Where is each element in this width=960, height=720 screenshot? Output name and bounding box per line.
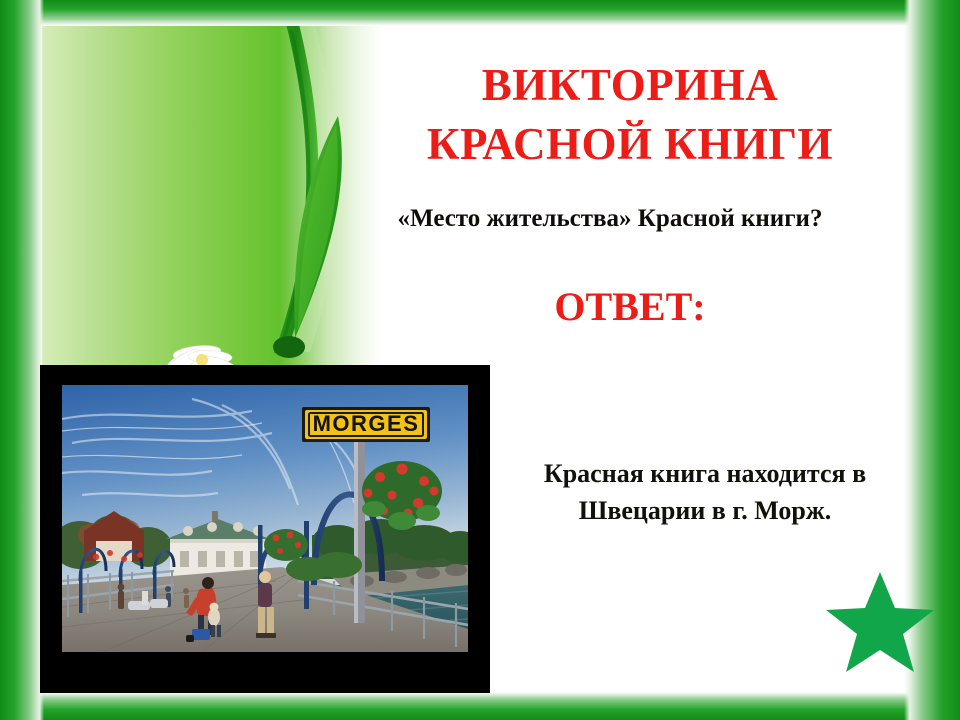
answer-line-3: г. Морж. <box>732 496 831 525</box>
page-title: ВИКТОРИНА КРАСНОЙ КНИГИ <box>330 56 930 175</box>
morges-promenade-photo: MORGES <box>62 385 468 652</box>
title-line-2: КРАСНОЙ КНИГИ <box>330 115 930 174</box>
border-top <box>0 0 960 26</box>
answer-text: Красная книга находится в Швецарии в г. … <box>505 455 905 529</box>
flower-basket-mid <box>264 529 308 561</box>
quiz-question: «Место жительства» Красной книги? <box>300 205 920 233</box>
slide-canvas: ВИКТОРИНА КРАСНОЙ КНИГИ «Место жительств… <box>0 0 960 720</box>
border-bottom <box>0 692 960 720</box>
answer-line-1: Красная книга <box>544 459 720 488</box>
title-line-1: ВИКТОРИНА <box>330 56 930 115</box>
morges-sign: MORGES <box>302 407 430 442</box>
border-left <box>0 0 44 720</box>
photo-frame: MORGES <box>40 365 490 693</box>
star-icon <box>824 568 936 676</box>
svg-text:MORGES: MORGES <box>313 411 420 436</box>
answer-label: ОТВЕТ: <box>330 283 930 330</box>
